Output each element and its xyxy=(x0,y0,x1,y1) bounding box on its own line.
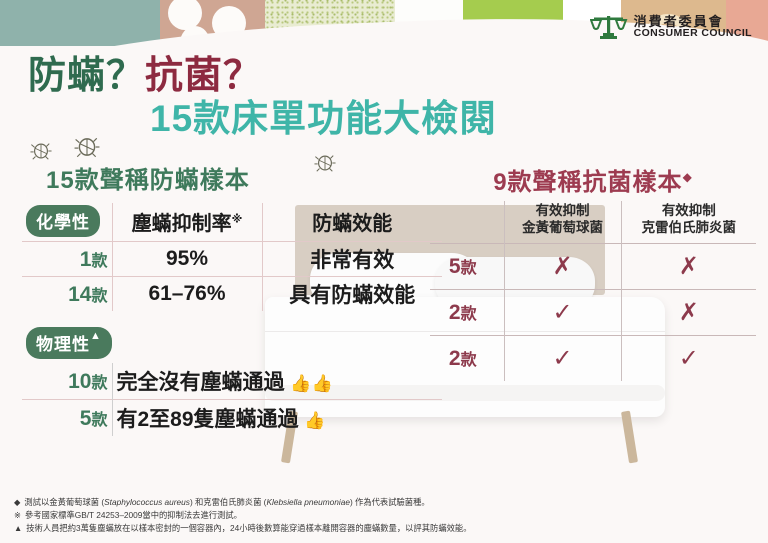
bac-row2-staph: ✓ xyxy=(504,289,621,335)
column-header-staph: 有效抑制金黃葡萄球菌 xyxy=(504,201,621,243)
phys-row1-count: 10款 xyxy=(22,363,112,400)
bac-row1-count: 5款 xyxy=(430,243,504,289)
bac-row1-staph: ✗ xyxy=(504,243,621,289)
table-row: 5款 有2至89隻塵蟎通過 👍 xyxy=(22,400,442,437)
chem-row2-effect: 具有防蟎效能 xyxy=(262,277,442,312)
footnote-diamond: ◆測試以金黃葡萄球菌 (Staphylococcus aureus) 和克雷伯氏… xyxy=(14,496,758,509)
column-header-kleb: 有效抑制克雷伯氏肺炎菌 xyxy=(621,201,756,243)
chemical-badge: 化學性 xyxy=(26,205,100,237)
footnote-marker-asterisk: ※ xyxy=(14,510,21,520)
logo-english-name: CONSUMER COUNCIL xyxy=(634,28,752,39)
consumer-council-logo: 消費者委員會 CONSUMER COUNCIL xyxy=(590,12,752,42)
column-header-effect: 防蟎效能 xyxy=(262,203,442,242)
scales-icon xyxy=(590,12,628,42)
bac-row3-count: 2款 xyxy=(430,335,504,381)
swatch-teal xyxy=(0,0,160,46)
anti-mite-section: 15款聲稱防蟎樣本 化學性 塵蟎抑制率※ 防蟎效能 1款 95% 非常有效 14… xyxy=(22,160,442,436)
thumbs-up-icon-2: 👍 xyxy=(304,411,325,430)
bac-row1-kleb: ✗ xyxy=(621,243,756,289)
chem-row1-rate: 95% xyxy=(112,242,262,277)
physical-table: 10款 完全沒有塵蟎通過 👍👍 5款 有2至89隻塵蟎通過 👍 xyxy=(22,363,442,436)
chem-row1-count: 1款 xyxy=(22,242,112,277)
footnote-marker-diamond: ◆ xyxy=(14,497,20,507)
page-title-line2: 15款床單功能大檢閱 xyxy=(150,88,497,142)
chem-row2-rate: 61–76% xyxy=(112,277,262,312)
table-row: 10款 完全沒有塵蟎通過 👍👍 xyxy=(22,363,442,400)
phys-row2-count: 5款 xyxy=(22,400,112,437)
heading-footnote-mark: ◆ xyxy=(683,170,693,184)
anti-bacterial-header-row: 有效抑制金黃葡萄球菌 有效抑制克雷伯氏肺炎菌 xyxy=(430,201,756,243)
rate-footnote-mark: ※ xyxy=(232,213,243,225)
physical-badge: 物理性▲ xyxy=(26,327,112,359)
dust-mite-icon-3 xyxy=(314,152,336,174)
bac-row3-staph: ✓ xyxy=(504,335,621,381)
thumbs-up-icon: 👍👍 xyxy=(290,374,332,393)
phys-row2-text: 有2至89隻塵蟎通過 👍 xyxy=(112,400,442,437)
infographic-page: 消費者委員會 CONSUMER COUNCIL 防蟎？抗菌？ 15款床單功能大檢… xyxy=(0,0,768,543)
footnote-marker-triangle: ▲ xyxy=(14,523,22,533)
column-header-rate: 塵蟎抑制率※ xyxy=(112,203,262,242)
bac-row3-kleb: ✓ xyxy=(621,335,756,381)
anti-mite-heading: 15款聲稱防蟎樣本 xyxy=(46,160,442,195)
footnote-asterisk: ※參考國家標準GB/T 24253–2009當中的抑制法去進行測試。 xyxy=(14,509,758,522)
logo-chinese-name: 消費者委員會 xyxy=(634,15,752,29)
dust-mite-icon-2 xyxy=(74,134,100,160)
chem-row2-count: 14款 xyxy=(22,277,112,312)
chemical-table: 化學性 塵蟎抑制率※ 防蟎效能 1款 95% 非常有效 14款 61–76% 具… xyxy=(22,203,442,311)
anti-bacterial-heading: 9款聲稱抗菌樣本◆ xyxy=(430,162,756,197)
chemical-table-header-row: 化學性 塵蟎抑制率※ 防蟎效能 xyxy=(22,203,442,242)
table-row: 5款 ✗ ✗ xyxy=(430,243,756,289)
table-row: 1款 95% 非常有效 xyxy=(22,242,442,277)
table-row: 14款 61–76% 具有防蟎效能 xyxy=(22,277,442,312)
physical-badge-mark: ▲ xyxy=(90,330,102,342)
table-row: 2款 ✓ ✓ xyxy=(430,335,756,381)
table-row: 2款 ✓ ✗ xyxy=(430,289,756,335)
footnote-triangle: ▲技術人員把約3萬隻塵蟎放在以樣本密封的一個容器內，24小時後數算能穿過樣本離開… xyxy=(14,522,758,535)
bac-row2-kleb: ✗ xyxy=(621,289,756,335)
dust-mite-icon xyxy=(30,140,52,162)
bac-row2-count: 2款 xyxy=(430,289,504,335)
title-part-antimite: 防蟎？ xyxy=(28,55,145,97)
chem-row1-effect: 非常有效 xyxy=(262,242,442,277)
footnotes: ◆測試以金黃葡萄球菌 (Staphylococcus aureus) 和克雷伯氏… xyxy=(14,496,758,535)
anti-bacterial-section: 9款聲稱抗菌樣本◆ 有效抑制金黃葡萄球菌 有效抑制克雷伯氏肺炎菌 5款 ✗ ✗ … xyxy=(430,162,756,381)
phys-row1-text: 完全沒有塵蟎通過 👍👍 xyxy=(112,363,442,400)
anti-bacterial-table: 有效抑制金黃葡萄球菌 有效抑制克雷伯氏肺炎菌 5款 ✗ ✗ 2款 ✓ ✗ 2款 … xyxy=(430,201,756,381)
